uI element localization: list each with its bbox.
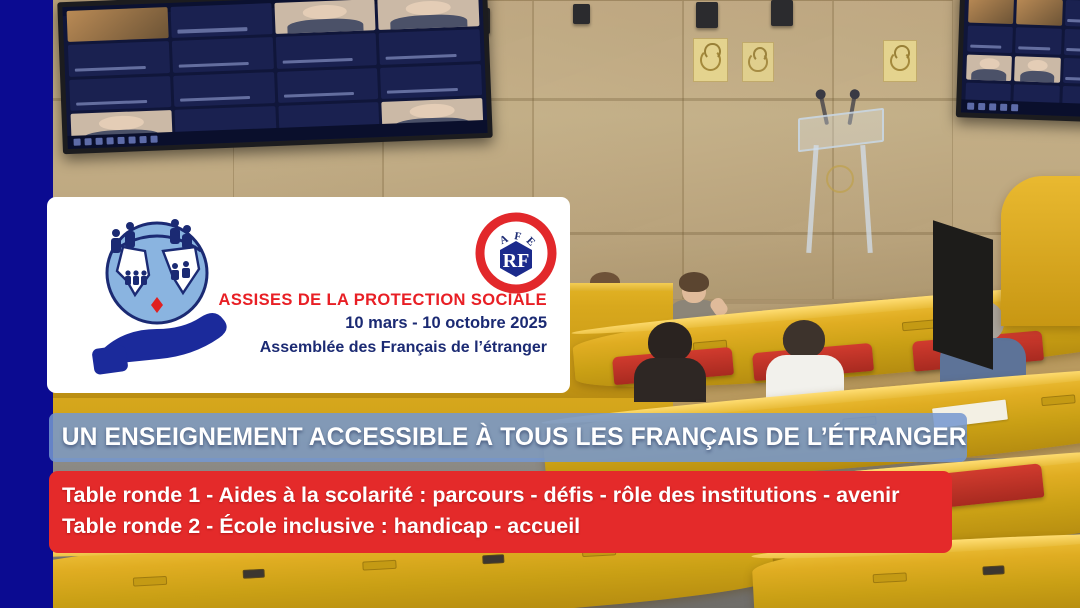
broadcast-frame: AFE RF ASSISES DE LA PROTECTION SOCIALE … [0, 0, 1080, 608]
roundtable-topics-box: Table ronde 1 - Aides à la scolarité : p… [49, 471, 952, 553]
brand-color-band [0, 0, 53, 608]
roundtable-topic-2: Table ronde 2 - École inclusive : handic… [62, 511, 952, 542]
senate-emblem-icon [883, 40, 917, 82]
monitor-back [933, 220, 993, 369]
attendee [783, 320, 844, 399]
roundtable-topic-1: Table ronde 1 - Aides à la scolarité : p… [62, 480, 952, 511]
senate-emblem-icon [742, 42, 774, 82]
videoconference-screen [57, 0, 493, 154]
bench-divider [1001, 176, 1080, 326]
organizer-name: Assemblée des Français de l’étranger [207, 336, 547, 360]
session-title-banner: UN ENSEIGNEMENT ACCESSIBLE À TOUS LES FR… [49, 413, 967, 462]
senate-emblem-icon [693, 38, 728, 82]
brand-card-text: ASSISES DE LA PROTECTION SOCIALE 10 mars… [207, 289, 547, 360]
ceiling-speaker-icon [696, 2, 718, 28]
videoconference-screen [956, 0, 1080, 123]
brand-card: AFE RF ASSISES DE LA PROTECTION SOCIALE … [47, 197, 570, 393]
event-dates: 10 mars - 10 octobre 2025 [207, 311, 547, 336]
event-title: ASSISES DE LA PROTECTION SOCIALE [207, 289, 547, 311]
afe-emblem-icon: AFE RF [474, 211, 558, 295]
attendee [648, 322, 706, 402]
ceiling-speaker-icon [771, 0, 793, 26]
ceiling-speaker-icon [573, 4, 590, 24]
svg-text:RF: RF [503, 250, 530, 272]
session-title: UN ENSEIGNEMENT ACCESSIBLE À TOUS LES FR… [49, 423, 967, 452]
glass-lectern [798, 95, 884, 255]
